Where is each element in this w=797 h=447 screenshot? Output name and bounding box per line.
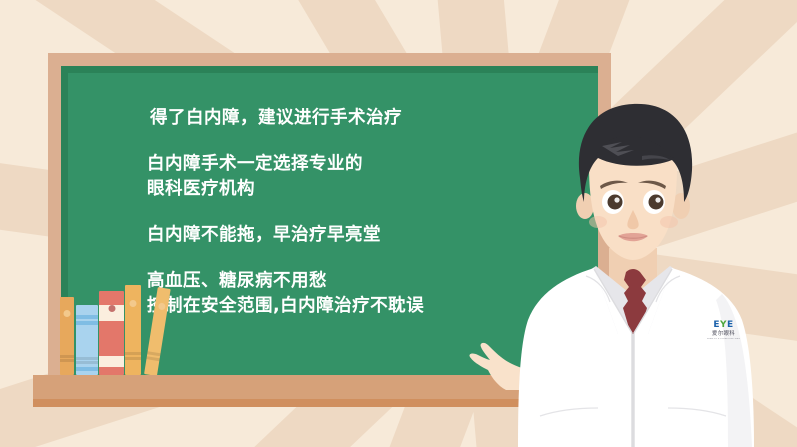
book-dot bbox=[130, 300, 137, 307]
book-band bbox=[76, 357, 98, 360]
doctor-illustration bbox=[466, 98, 797, 447]
book-4-orange bbox=[125, 285, 141, 375]
doctor-cheek-right bbox=[660, 216, 678, 228]
book-stripe bbox=[76, 321, 98, 325]
book-dot bbox=[108, 305, 115, 312]
book-band bbox=[125, 352, 141, 355]
logo-letter-right: E bbox=[727, 320, 734, 330]
logo-chinese-name: 爱尔眼科 bbox=[707, 332, 740, 338]
logo-letter-left: E bbox=[713, 320, 720, 330]
book-band bbox=[60, 359, 74, 362]
hospital-logo: EYE 爱尔眼科 AIER EYE HOSPITAL GROUP bbox=[707, 321, 740, 341]
book-band bbox=[146, 356, 159, 361]
doctor-eye-glint-left bbox=[614, 197, 619, 202]
poster-canvas: 得了白内障，建议进行手术治疗白内障手术一定选择专业的眼科医疗机构白内障不能拖，早… bbox=[0, 0, 797, 447]
book-dot bbox=[64, 310, 71, 317]
doctor-cheek-left bbox=[589, 216, 607, 228]
book-band bbox=[76, 361, 98, 364]
book-label-stripe-bottom bbox=[99, 356, 124, 367]
book-band bbox=[125, 357, 141, 360]
logo-eye-wordmark: EYE bbox=[707, 321, 740, 330]
book-stripe bbox=[76, 367, 98, 371]
logo-letter-mid: Y bbox=[720, 320, 727, 330]
doctor-coat-left bbox=[518, 268, 618, 447]
book-band bbox=[147, 351, 160, 356]
doctor-iris-left bbox=[608, 195, 623, 210]
book-1-tan bbox=[60, 297, 74, 375]
doctor-iris-right bbox=[649, 195, 664, 210]
book-dot bbox=[157, 302, 165, 310]
book-stripe bbox=[76, 315, 98, 319]
logo-subtitle: AIER EYE HOSPITAL GROUP bbox=[707, 338, 740, 341]
doctor-eye-glint-right bbox=[655, 197, 660, 202]
book-2-blue bbox=[76, 305, 98, 375]
book-band bbox=[60, 355, 74, 358]
book-3-red bbox=[99, 291, 124, 375]
